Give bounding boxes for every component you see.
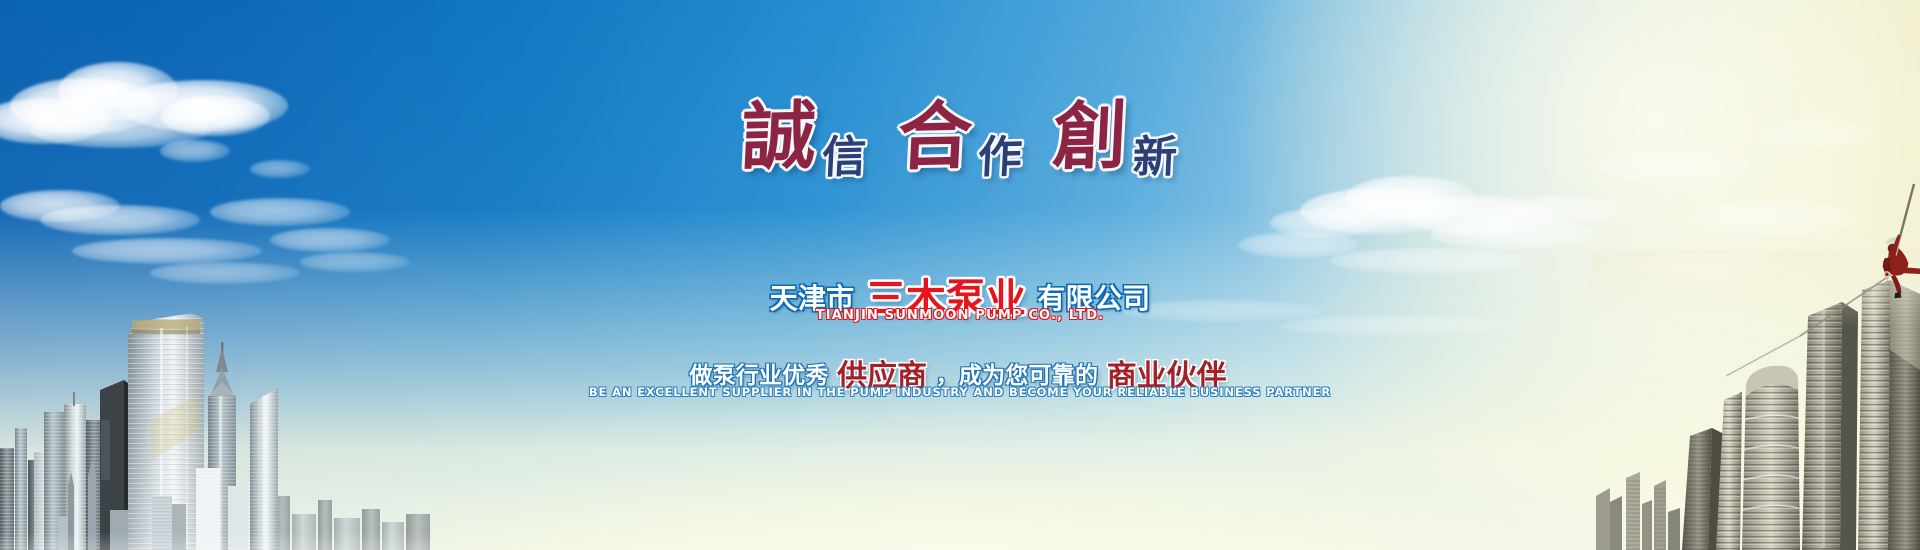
left-skyline bbox=[0, 300, 430, 550]
right-skyline bbox=[1590, 250, 1920, 550]
hero-banner: 誠 信 合 作 創 新 天津市 三木泵业 有限公司 TIANJIN SUNMOO… bbox=[0, 0, 1920, 550]
